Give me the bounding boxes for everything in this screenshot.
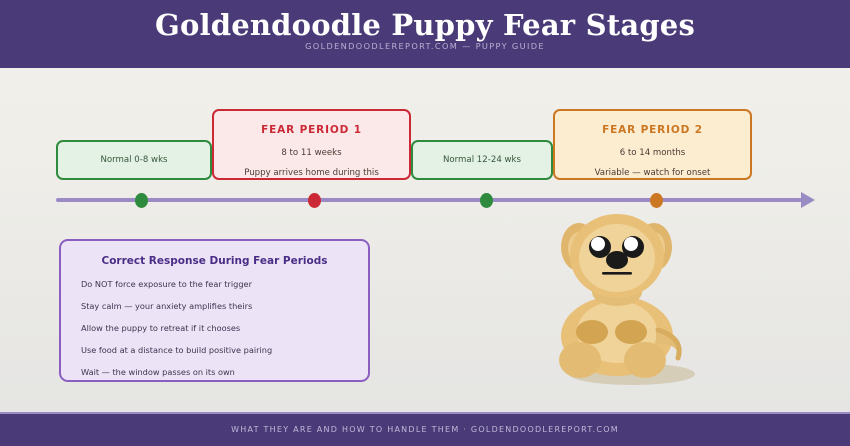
advice-list: Do NOT force exposure to the fear trigge…: [61, 279, 368, 377]
stage-fear-period-1: FEAR PERIOD 18 to 11 weeksPuppy arrives …: [212, 109, 411, 180]
marker-normal-1-dot-icon: [135, 193, 148, 208]
footer-banner: WHAT THEY ARE AND HOW TO HANDLE THEM · G…: [0, 412, 850, 446]
stage-fear-period-2-title: FEAR PERIOD 2: [555, 124, 750, 136]
infographic-page: Goldendoodle Puppy Fear Stages GOLDENDOO…: [0, 0, 850, 446]
timeline-arrow-icon: [801, 192, 815, 208]
marker-fear-2-dot-icon: [650, 193, 663, 208]
stage-normal-12-24-wks-label: Normal 12-24 wks: [413, 142, 551, 178]
stage-normal-12-24-wks: Normal 12-24 wks: [411, 140, 553, 180]
header-banner: Goldendoodle Puppy Fear Stages GOLDENDOO…: [0, 0, 850, 68]
page-title: Goldendoodle Puppy Fear Stages: [0, 8, 850, 42]
advice-item: Use food at a distance to build positive…: [61, 345, 368, 355]
golden-puppy-illustration: [532, 214, 732, 394]
advice-panel-title: Correct Response During Fear Periods: [61, 255, 368, 267]
timeline-axis: [56, 198, 806, 202]
stage-normal-0-8-wks: Normal 0-8 wks: [56, 140, 212, 180]
marker-fear-1-dot-icon: [308, 193, 321, 208]
advice-item: Do NOT force exposure to the fear trigge…: [61, 279, 368, 289]
stage-fear-period-1-note: Puppy arrives home during this: [214, 168, 409, 178]
page-subtitle: GOLDENDOODLEREPORT.COM — PUPPY GUIDE: [0, 41, 850, 51]
advice-panel: Correct Response During Fear Periods Do …: [59, 239, 370, 382]
stage-fear-period-2: FEAR PERIOD 26 to 14 monthsVariable — wa…: [553, 109, 752, 180]
stage-normal-0-8-wks-label: Normal 0-8 wks: [58, 142, 210, 178]
stage-fear-period-2-note: Variable — watch for onset: [555, 168, 750, 178]
stage-fear-period-1-range: 8 to 11 weeks: [214, 148, 409, 158]
advice-item: Wait — the window passes on its own: [61, 367, 368, 377]
stage-fear-period-1-title: FEAR PERIOD 1: [214, 124, 409, 136]
advice-item: Allow the puppy to retreat if it chooses: [61, 323, 368, 333]
footer-text: WHAT THEY ARE AND HOW TO HANDLE THEM · G…: [0, 425, 850, 434]
advice-item: Stay calm — your anxiety amplifies their…: [61, 301, 368, 311]
marker-normal-2-dot-icon: [480, 193, 493, 208]
stage-fear-period-2-range: 6 to 14 months: [555, 148, 750, 158]
